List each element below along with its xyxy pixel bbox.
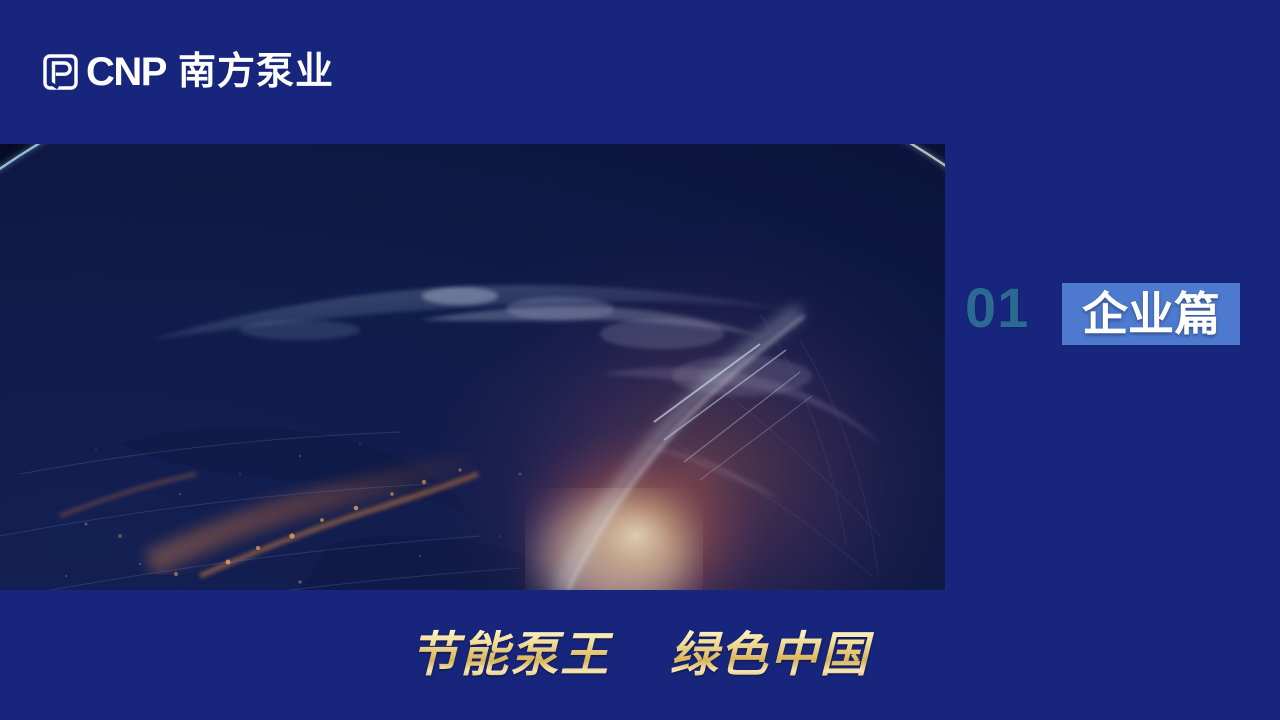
brand-latin-text: CNP (86, 52, 166, 92)
brand-logo[interactable]: CNP 南方泵业 (40, 48, 334, 96)
cnp-p-monogram-icon (40, 52, 80, 92)
section-marker: 01 企业篇 (945, 144, 1280, 590)
header-bar: CNP 南方泵业 (0, 0, 1280, 144)
brand-chinese-text: 南方泵业 (178, 52, 334, 92)
section-number: 01 (965, 280, 1029, 336)
tagline-left-text: 节能泵王 (410, 627, 610, 683)
company-tagline: 节能泵王 绿色中国 (0, 628, 1280, 682)
earth-hero-image (0, 144, 945, 590)
section-title-highlight[interactable]: 企业篇 (1062, 283, 1240, 345)
presentation-slide: CNP 南方泵业 (0, 0, 1280, 720)
tagline-right-text: 绿色中国 (670, 627, 870, 683)
section-title-text: 企业篇 (1082, 291, 1220, 337)
footer-band: 节能泵王 绿色中国 (0, 590, 1280, 720)
earth-from-space-illustration (0, 144, 945, 590)
